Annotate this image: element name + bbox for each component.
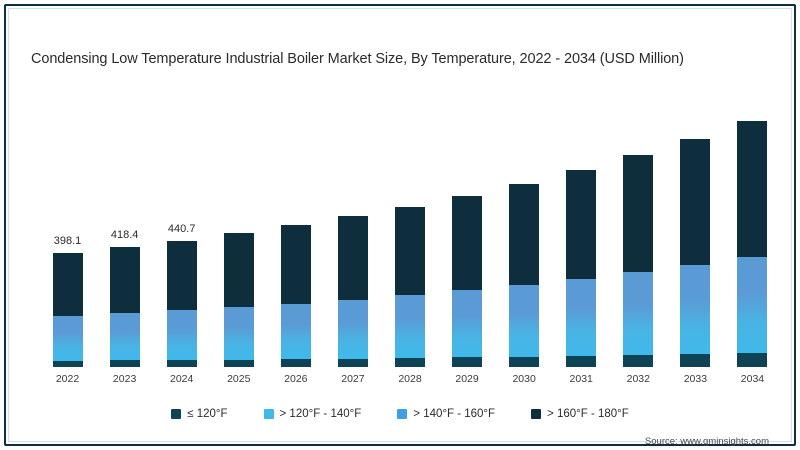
bar-segment[interactable]	[509, 357, 539, 367]
page-title: Condensing Low Temperature Industrial Bo…	[31, 51, 781, 67]
bar-segment[interactable]	[737, 353, 767, 367]
x-axis-tick-label: 2027	[338, 373, 368, 385]
bar-segment[interactable]	[167, 310, 197, 344]
x-axis-tick-label: 2024	[167, 373, 197, 385]
stacked-bar[interactable]	[737, 121, 767, 367]
bar-segment[interactable]	[53, 253, 83, 316]
legend-swatch-icon	[264, 409, 274, 419]
bar-segment[interactable]	[395, 207, 425, 295]
stacked-bar[interactable]	[395, 207, 425, 367]
stacked-bar[interactable]	[224, 233, 254, 367]
bar-segment[interactable]	[680, 139, 710, 265]
bar-segment[interactable]	[338, 359, 368, 367]
bar-segment[interactable]	[452, 357, 482, 366]
x-axis-tick-label: 2032	[623, 373, 653, 385]
legend-item[interactable]: ≤ 120°F	[171, 408, 227, 420]
stacked-bar[interactable]	[167, 241, 197, 367]
chart-frame: Condensing Low Temperature Industrial Bo…	[4, 4, 796, 446]
x-axis-tick-label: 2033	[680, 373, 710, 385]
bar-segment[interactable]	[281, 225, 311, 303]
bar-segment[interactable]	[737, 257, 767, 324]
bar-segment[interactable]	[53, 316, 83, 347]
source-attribution: Source: www.gminsights.com	[645, 436, 769, 447]
bar-segment[interactable]	[737, 121, 767, 257]
bar-segment[interactable]	[566, 279, 596, 333]
bar-segment[interactable]	[281, 342, 311, 359]
bar-column[interactable]	[680, 95, 710, 367]
legend-swatch-icon	[171, 409, 181, 419]
bar-segment[interactable]	[566, 170, 596, 279]
bar-segment[interactable]	[338, 300, 368, 341]
stacked-bar[interactable]	[680, 139, 710, 367]
bar-column[interactable]	[395, 95, 425, 367]
bar-column[interactable]	[452, 95, 482, 367]
bar-segment[interactable]	[53, 347, 83, 361]
bar-segment[interactable]	[566, 332, 596, 356]
bar-segment[interactable]	[395, 358, 425, 367]
bar-segment[interactable]	[395, 295, 425, 339]
bar-segment[interactable]	[167, 241, 197, 311]
bar-segment[interactable]	[224, 344, 254, 360]
legend-swatch-icon	[397, 409, 407, 419]
bar-segment[interactable]	[53, 361, 83, 367]
bar-column[interactable]	[509, 95, 539, 367]
bar-segment[interactable]	[167, 360, 197, 367]
bar-segment[interactable]	[623, 272, 653, 330]
legend-label: > 140°F - 160°F	[413, 408, 495, 420]
stacked-bar[interactable]	[452, 196, 482, 367]
bar-segment[interactable]	[737, 324, 767, 354]
stacked-bar[interactable]	[53, 253, 83, 367]
bar-value-label: 418.4	[111, 229, 139, 241]
stacked-bar[interactable]	[281, 225, 311, 367]
stacked-bar[interactable]	[110, 247, 140, 367]
bar-segment[interactable]	[680, 265, 710, 327]
legend-label: > 120°F - 140°F	[280, 408, 362, 420]
bar-column[interactable]: 398.1	[53, 95, 83, 367]
x-axis-tick-label: 2028	[395, 373, 425, 385]
x-axis-tick-label: 2030	[509, 373, 539, 385]
bar-value-label: 440.7	[168, 223, 196, 235]
plot-area: 398.1418.4440.7	[39, 95, 781, 367]
bar-segment[interactable]	[224, 233, 254, 307]
bar-segment[interactable]	[110, 313, 140, 346]
legend-item[interactable]: > 160°F - 180°F	[531, 408, 629, 420]
bar-segment[interactable]	[566, 356, 596, 367]
x-axis: 2022202320242025202620272028202920302031…	[39, 373, 781, 391]
bar-column[interactable]: 440.7	[167, 95, 197, 367]
legend-swatch-icon	[531, 409, 541, 419]
bar-segment[interactable]	[509, 184, 539, 285]
legend-item[interactable]: > 120°F - 140°F	[264, 408, 362, 420]
bar-segment[interactable]	[110, 360, 140, 367]
bar-segment[interactable]	[623, 355, 653, 367]
bar-segment[interactable]	[509, 335, 539, 357]
legend-item[interactable]: > 140°F - 160°F	[397, 408, 495, 420]
stacked-bar[interactable]	[338, 216, 368, 367]
bar-segment[interactable]	[281, 304, 311, 343]
legend-label: > 160°F - 180°F	[547, 408, 629, 420]
chart-inner-panel: Condensing Low Temperature Industrial Bo…	[8, 8, 792, 442]
x-axis-tick-label: 2025	[224, 373, 254, 385]
bar-segment[interactable]	[224, 307, 254, 343]
bar-column[interactable]	[623, 95, 653, 367]
bar-segment[interactable]	[338, 341, 368, 359]
bar-column[interactable]	[338, 95, 368, 367]
bar-segment[interactable]	[338, 216, 368, 299]
bar-segment[interactable]	[680, 327, 710, 354]
bar-segment[interactable]	[395, 339, 425, 358]
bar-segment[interactable]	[452, 290, 482, 337]
bar-segment[interactable]	[623, 155, 653, 272]
bar-value-label: 398.1	[54, 235, 82, 247]
x-axis-tick-label: 2031	[566, 373, 596, 385]
bar-segment[interactable]	[509, 285, 539, 335]
bar-segment[interactable]	[452, 196, 482, 290]
bar-segment[interactable]	[452, 337, 482, 358]
bar-segment[interactable]	[680, 354, 710, 367]
x-axis-tick-label: 2029	[452, 373, 482, 385]
legend-label: ≤ 120°F	[187, 408, 227, 420]
x-axis-tick-label: 2023	[110, 373, 140, 385]
bar-segment[interactable]	[224, 360, 254, 367]
bar-column[interactable]	[224, 95, 254, 367]
x-axis-tick-label: 2026	[281, 373, 311, 385]
bar-segment[interactable]	[167, 345, 197, 360]
stacked-bar[interactable]	[509, 184, 539, 367]
x-axis-tick-label: 2022	[53, 373, 83, 385]
bar-segment[interactable]	[281, 359, 311, 367]
bar-column[interactable]	[737, 95, 767, 367]
bar-column[interactable]	[281, 95, 311, 367]
bar-segment[interactable]	[623, 330, 653, 355]
bar-column[interactable]: 418.4	[110, 95, 140, 367]
legend: ≤ 120°F> 120°F - 140°F> 140°F - 160°F> 1…	[9, 408, 791, 420]
bar-segment[interactable]	[110, 346, 140, 360]
x-axis-tick-label: 2034	[737, 373, 767, 385]
bar-column[interactable]	[566, 95, 596, 367]
bar-segment[interactable]	[110, 247, 140, 313]
stacked-bar[interactable]	[623, 155, 653, 367]
stacked-bar[interactable]	[566, 170, 596, 367]
